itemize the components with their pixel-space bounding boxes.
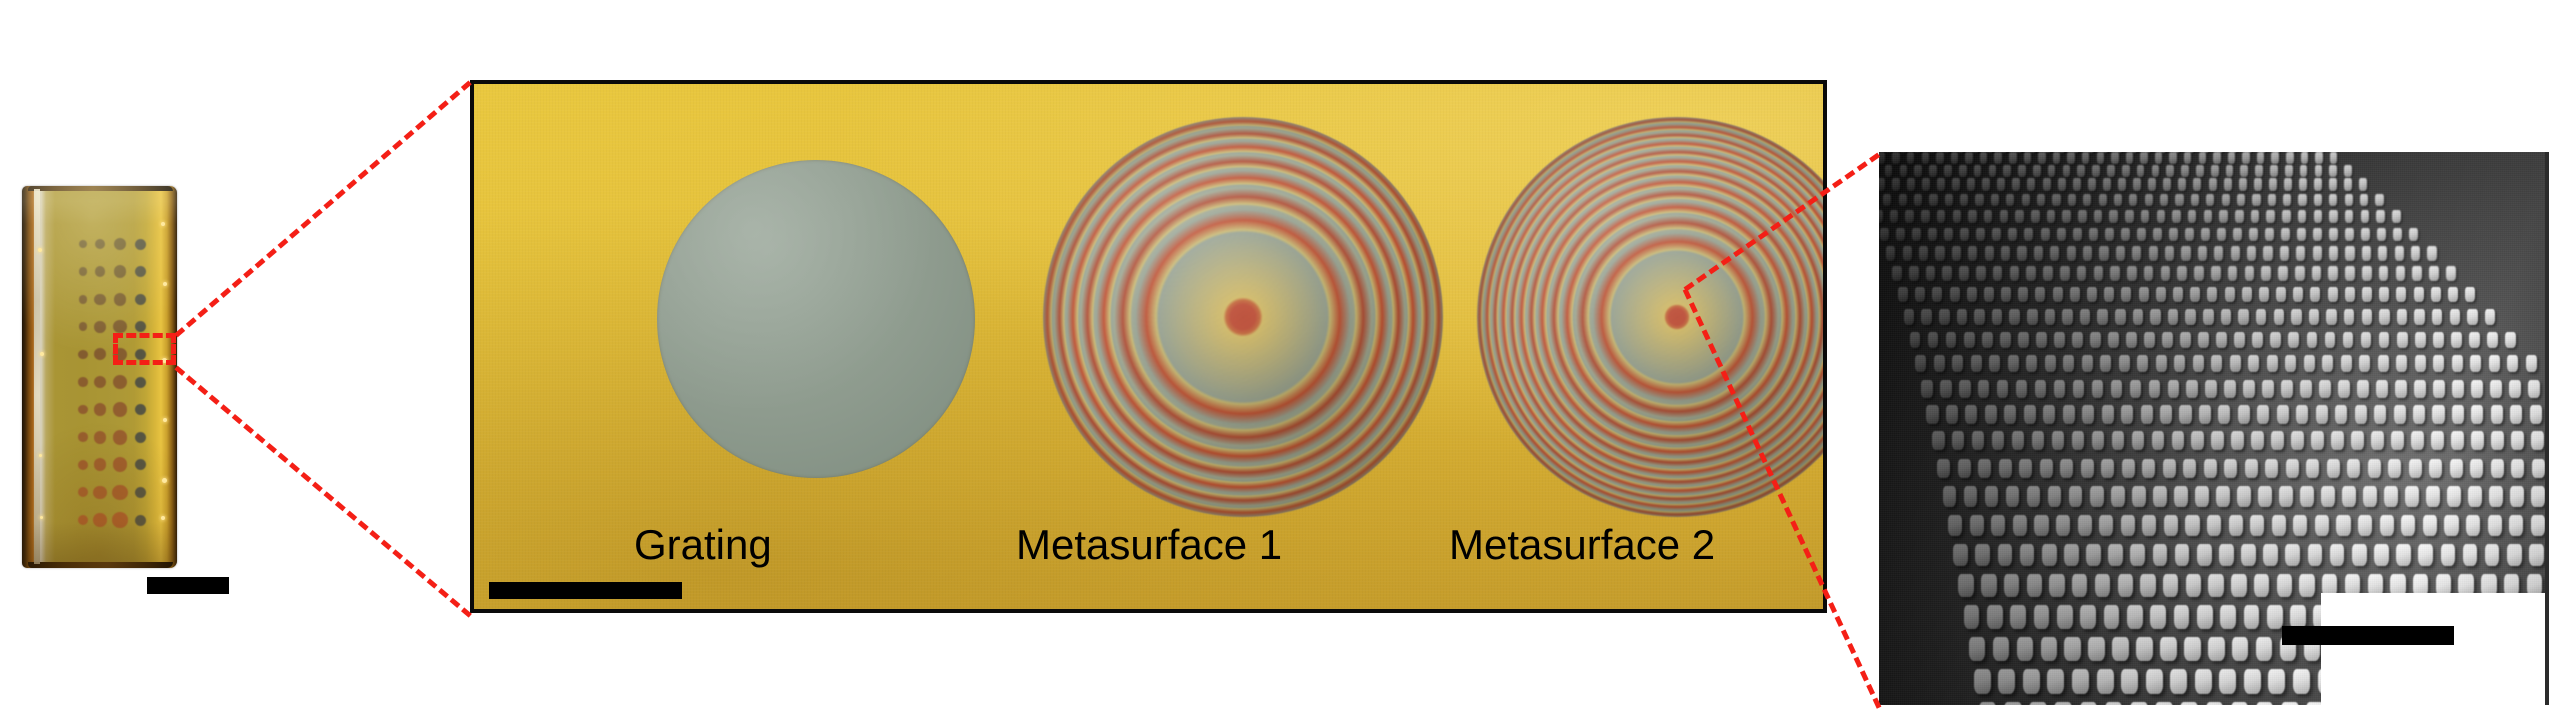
chip-specular-highlight bbox=[162, 478, 167, 483]
region-of-interest-box bbox=[113, 333, 176, 365]
chip-specular-highlight bbox=[40, 516, 43, 519]
sem-nanopillar-array bbox=[1879, 152, 2545, 705]
figure-canvas: Grating Metasurface 1 Metasurface 2 bbox=[0, 0, 2552, 672]
panel-scale-bar bbox=[489, 582, 682, 599]
chip-specular-highlight bbox=[161, 516, 165, 520]
device-metasurface-1 bbox=[1043, 117, 1443, 517]
label-metasurface-2: Metasurface 2 bbox=[1449, 524, 1715, 566]
label-grating: Grating bbox=[634, 524, 772, 566]
chip-specular-highlight bbox=[163, 418, 167, 422]
chip-specular-highlight bbox=[161, 222, 165, 226]
metasurface-1-rings bbox=[1043, 117, 1443, 517]
chip-specular-highlight bbox=[39, 454, 42, 457]
sem-scale-bar-backdrop bbox=[2321, 593, 2545, 705]
optical-micrograph-panel: Grating Metasurface 1 Metasurface 2 bbox=[470, 80, 1827, 613]
chip-specular-highlight bbox=[38, 248, 42, 252]
sem-scale-bar bbox=[2282, 626, 2454, 645]
label-metasurface-1: Metasurface 1 bbox=[1016, 524, 1282, 566]
device-grating bbox=[657, 160, 975, 478]
callout-chip-to-panel-top bbox=[174, 81, 471, 338]
chip-scale-bar bbox=[147, 577, 229, 594]
chip-sheen bbox=[22, 186, 177, 568]
grating-highlight bbox=[657, 160, 975, 478]
chip-specular-highlight bbox=[163, 282, 167, 286]
metasurface-1-edge-shading bbox=[1043, 117, 1443, 517]
chip-specular-highlight bbox=[40, 352, 44, 356]
chip-photograph bbox=[22, 186, 177, 568]
sem-right-border bbox=[2545, 152, 2549, 705]
